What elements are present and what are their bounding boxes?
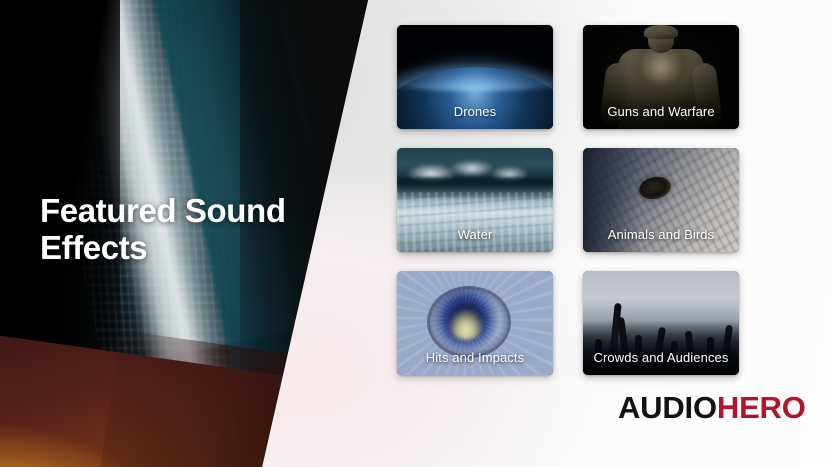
logo-text-audio: AUDIO <box>618 390 717 425</box>
category-card-animals-and-birds[interactable]: Animals and Birds <box>583 148 739 252</box>
wave-foam <box>397 192 553 252</box>
crowd-shadow-overlay <box>583 321 739 375</box>
category-card-hits-and-impacts[interactable]: Hits and Impacts <box>397 271 553 375</box>
impact-core <box>449 310 483 340</box>
logo-text-hero: HERO <box>717 390 806 425</box>
category-card-drones[interactable]: Drones <box>397 25 553 129</box>
category-card-grid: Drones Guns and Warfare Water <box>397 25 739 375</box>
category-card-label: Water <box>397 228 553 241</box>
page-title: Featured Sound Effects <box>40 193 340 267</box>
category-card-label: Guns and Warfare <box>583 105 739 118</box>
audiohero-logo[interactable]: AUDIOHERO <box>618 392 806 423</box>
category-card-water[interactable]: Water <box>397 148 553 252</box>
category-card-guns-and-warfare[interactable]: Guns and Warfare <box>583 25 739 129</box>
category-card-label: Crowds and Audiences <box>583 351 739 364</box>
category-card-label: Drones <box>397 105 553 118</box>
category-card-label: Hits and Impacts <box>397 351 553 364</box>
category-card-label: Animals and Birds <box>583 228 739 241</box>
category-card-crowds-and-audiences[interactable]: Crowds and Audiences <box>583 271 739 375</box>
promo-banner: Featured Sound Effects Drones Guns and W… <box>0 0 832 467</box>
